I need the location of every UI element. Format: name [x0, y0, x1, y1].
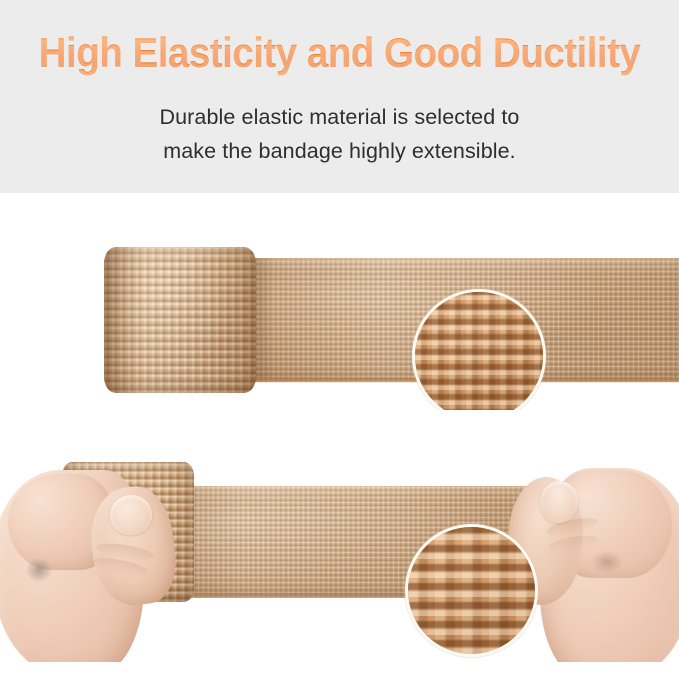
subtitle-line-1: Durable elastic material is selected to — [0, 100, 679, 134]
magnifier-circle-unstretched — [412, 289, 546, 423]
bandage-roll-top — [104, 247, 256, 393]
page-subtitle: Durable elastic material is selected to … — [0, 100, 679, 168]
weave-detail-stretched — [408, 527, 535, 654]
left-hand-finger-gap — [26, 558, 52, 582]
subtitle-line-2: make the bandage highly extensible. — [0, 134, 679, 168]
right-hand-finger-gap — [592, 551, 622, 573]
header-banner: High Elasticity and Good Ductility Durab… — [0, 0, 679, 193]
weave-detail-unstretched — [415, 292, 543, 420]
page-title: High Elasticity and Good Ductility — [27, 27, 652, 79]
product-infographic: High Elasticity and Good Ductility Durab… — [0, 0, 679, 679]
magnifier-circle-stretched — [405, 524, 538, 657]
